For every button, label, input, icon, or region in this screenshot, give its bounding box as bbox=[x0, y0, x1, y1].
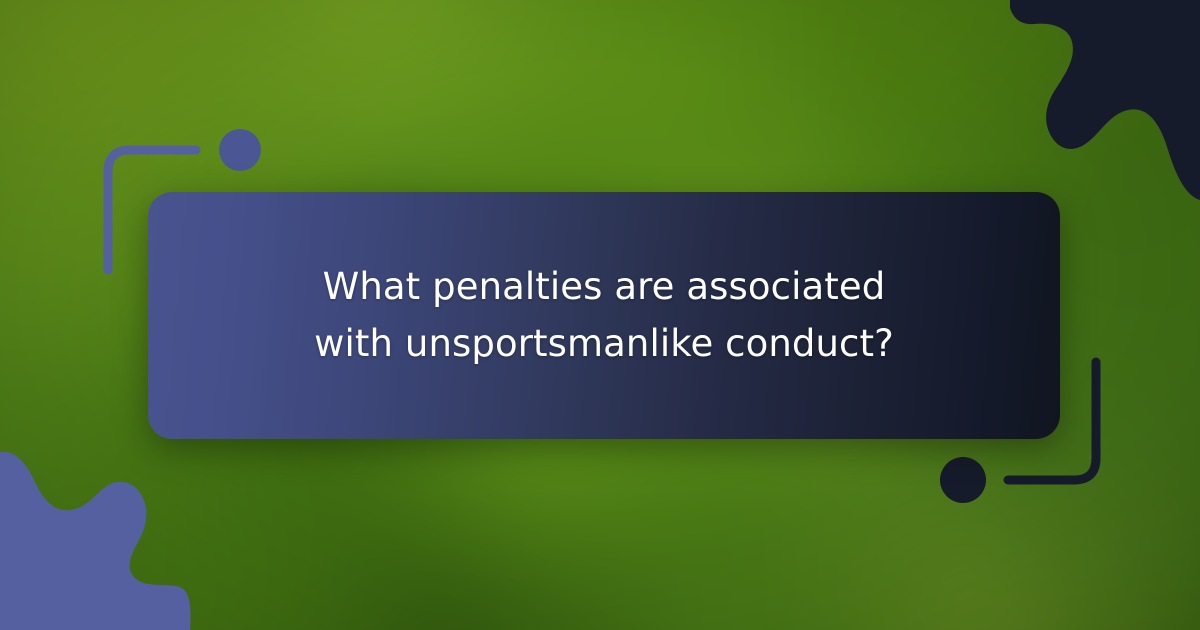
accent-dot-top-left bbox=[219, 129, 261, 171]
question-card-graphic: What penalties are associated with unspo… bbox=[0, 0, 1200, 630]
question-card: What penalties are associated with unspo… bbox=[148, 192, 1060, 439]
accent-dot-bottom-right bbox=[940, 457, 986, 503]
question-text: What penalties are associated with unspo… bbox=[284, 259, 924, 371]
